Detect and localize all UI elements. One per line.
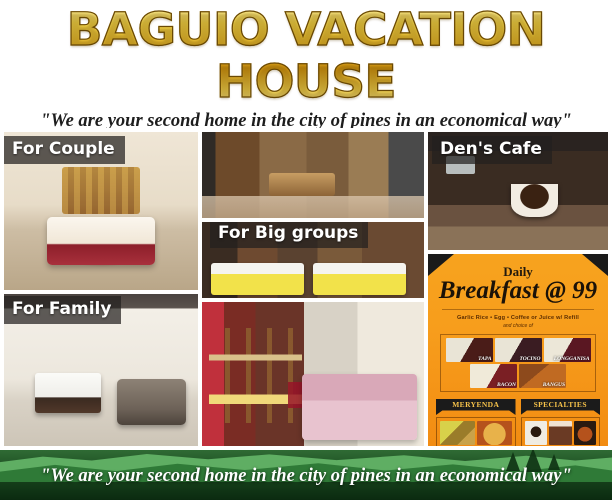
pizza-photo xyxy=(477,421,512,445)
menu-section-images xyxy=(525,421,597,445)
menu-section-images xyxy=(440,421,512,445)
daily-breakfast-poster: Daily Breakfast @ 99 Garlic Rice • Egg •… xyxy=(428,254,608,446)
bunk-bed-room-photo xyxy=(202,302,424,446)
caption-for-family: For Family xyxy=(4,296,121,324)
menu-choice-label: TAPA xyxy=(478,356,491,362)
menu-includes-subline: and choice of xyxy=(428,323,608,329)
menu-choice-item: TAPA xyxy=(446,338,493,362)
photo-tile-breakfast-menu: Daily Breakfast @ 99 Garlic Rice • Egg •… xyxy=(428,254,608,446)
banner-tagline-text: "We are your second home in the city of … xyxy=(0,464,612,488)
menu-includes-line: Garlic Rice • Egg • Coffee or Juice w/ R… xyxy=(442,309,594,322)
caption-for-big-groups: For Big groups xyxy=(210,222,368,248)
menu-choice-item: LONGGANISA xyxy=(544,338,591,362)
menu-section-body: PANINI WHEAT BREAD SANDWICH Choice of Ba… xyxy=(436,417,516,446)
sandwich-photo xyxy=(440,421,475,445)
photo-tile-couple: For Couple xyxy=(4,132,198,290)
caption-for-couple: For Couple xyxy=(4,136,125,164)
menu-section-title: MERYENDA xyxy=(436,399,516,415)
photo-tile-bunk-room xyxy=(202,302,424,446)
photo-tile-living-area xyxy=(202,132,424,218)
living-dining-area-photo xyxy=(202,132,424,218)
menu-choice-label: LONGGANISA xyxy=(554,356,590,362)
frappe-photo xyxy=(549,421,572,445)
photo-tile-family: For Family xyxy=(4,294,198,446)
menu-choice-item: BACON xyxy=(470,364,517,388)
photo-gallery-grid: For Couple For Family For Big groups Den… xyxy=(0,128,612,450)
coffee-photo xyxy=(525,421,548,445)
menu-hero-title: Breakfast @ 99 xyxy=(428,277,608,304)
page-title: BAGUIO VACATION HOUSE xyxy=(0,4,612,108)
menu-choice-label: BACON xyxy=(497,382,516,388)
menu-choice-label: TOCINO xyxy=(520,356,541,362)
caption-dens-cafe: Den's Cafe xyxy=(432,136,552,164)
menu-choice-item: TOCINO xyxy=(495,338,542,362)
menu-section-meryenda: MERYENDA PANINI WHEAT BREAD SANDWICH Cho… xyxy=(436,399,516,446)
menu-section-body: FRESHLY BREWED COFFEE SIGNATURE FRAPPE C… xyxy=(521,417,601,446)
tea-photo xyxy=(574,421,597,445)
photo-tile-big-groups: For Big groups xyxy=(202,222,424,298)
menu-section-title: SPECIALTIES xyxy=(521,399,601,415)
menu-choice-label: BANGUS xyxy=(543,382,565,388)
poster-header: BAGUIO VACATION HOUSE "We are your secon… xyxy=(0,0,612,128)
menu-sections: MERYENDA PANINI WHEAT BREAD SANDWICH Cho… xyxy=(436,399,600,446)
photo-tile-cafe: Den's Cafe xyxy=(428,132,608,250)
vacation-house-poster: BAGUIO VACATION HOUSE "We are your secon… xyxy=(0,0,612,500)
menu-section-specialties: SPECIALTIES FRESHLY BREWED COFFEE SIGNAT… xyxy=(521,399,601,446)
menu-choice-item: BANGUS xyxy=(519,364,566,388)
bottom-tagline-banner: "We are your second home in the city of … xyxy=(0,450,612,500)
menu-choice-thumbnails: TAPA TOCINO LONGGANISA BACON BANGUS xyxy=(440,334,596,392)
